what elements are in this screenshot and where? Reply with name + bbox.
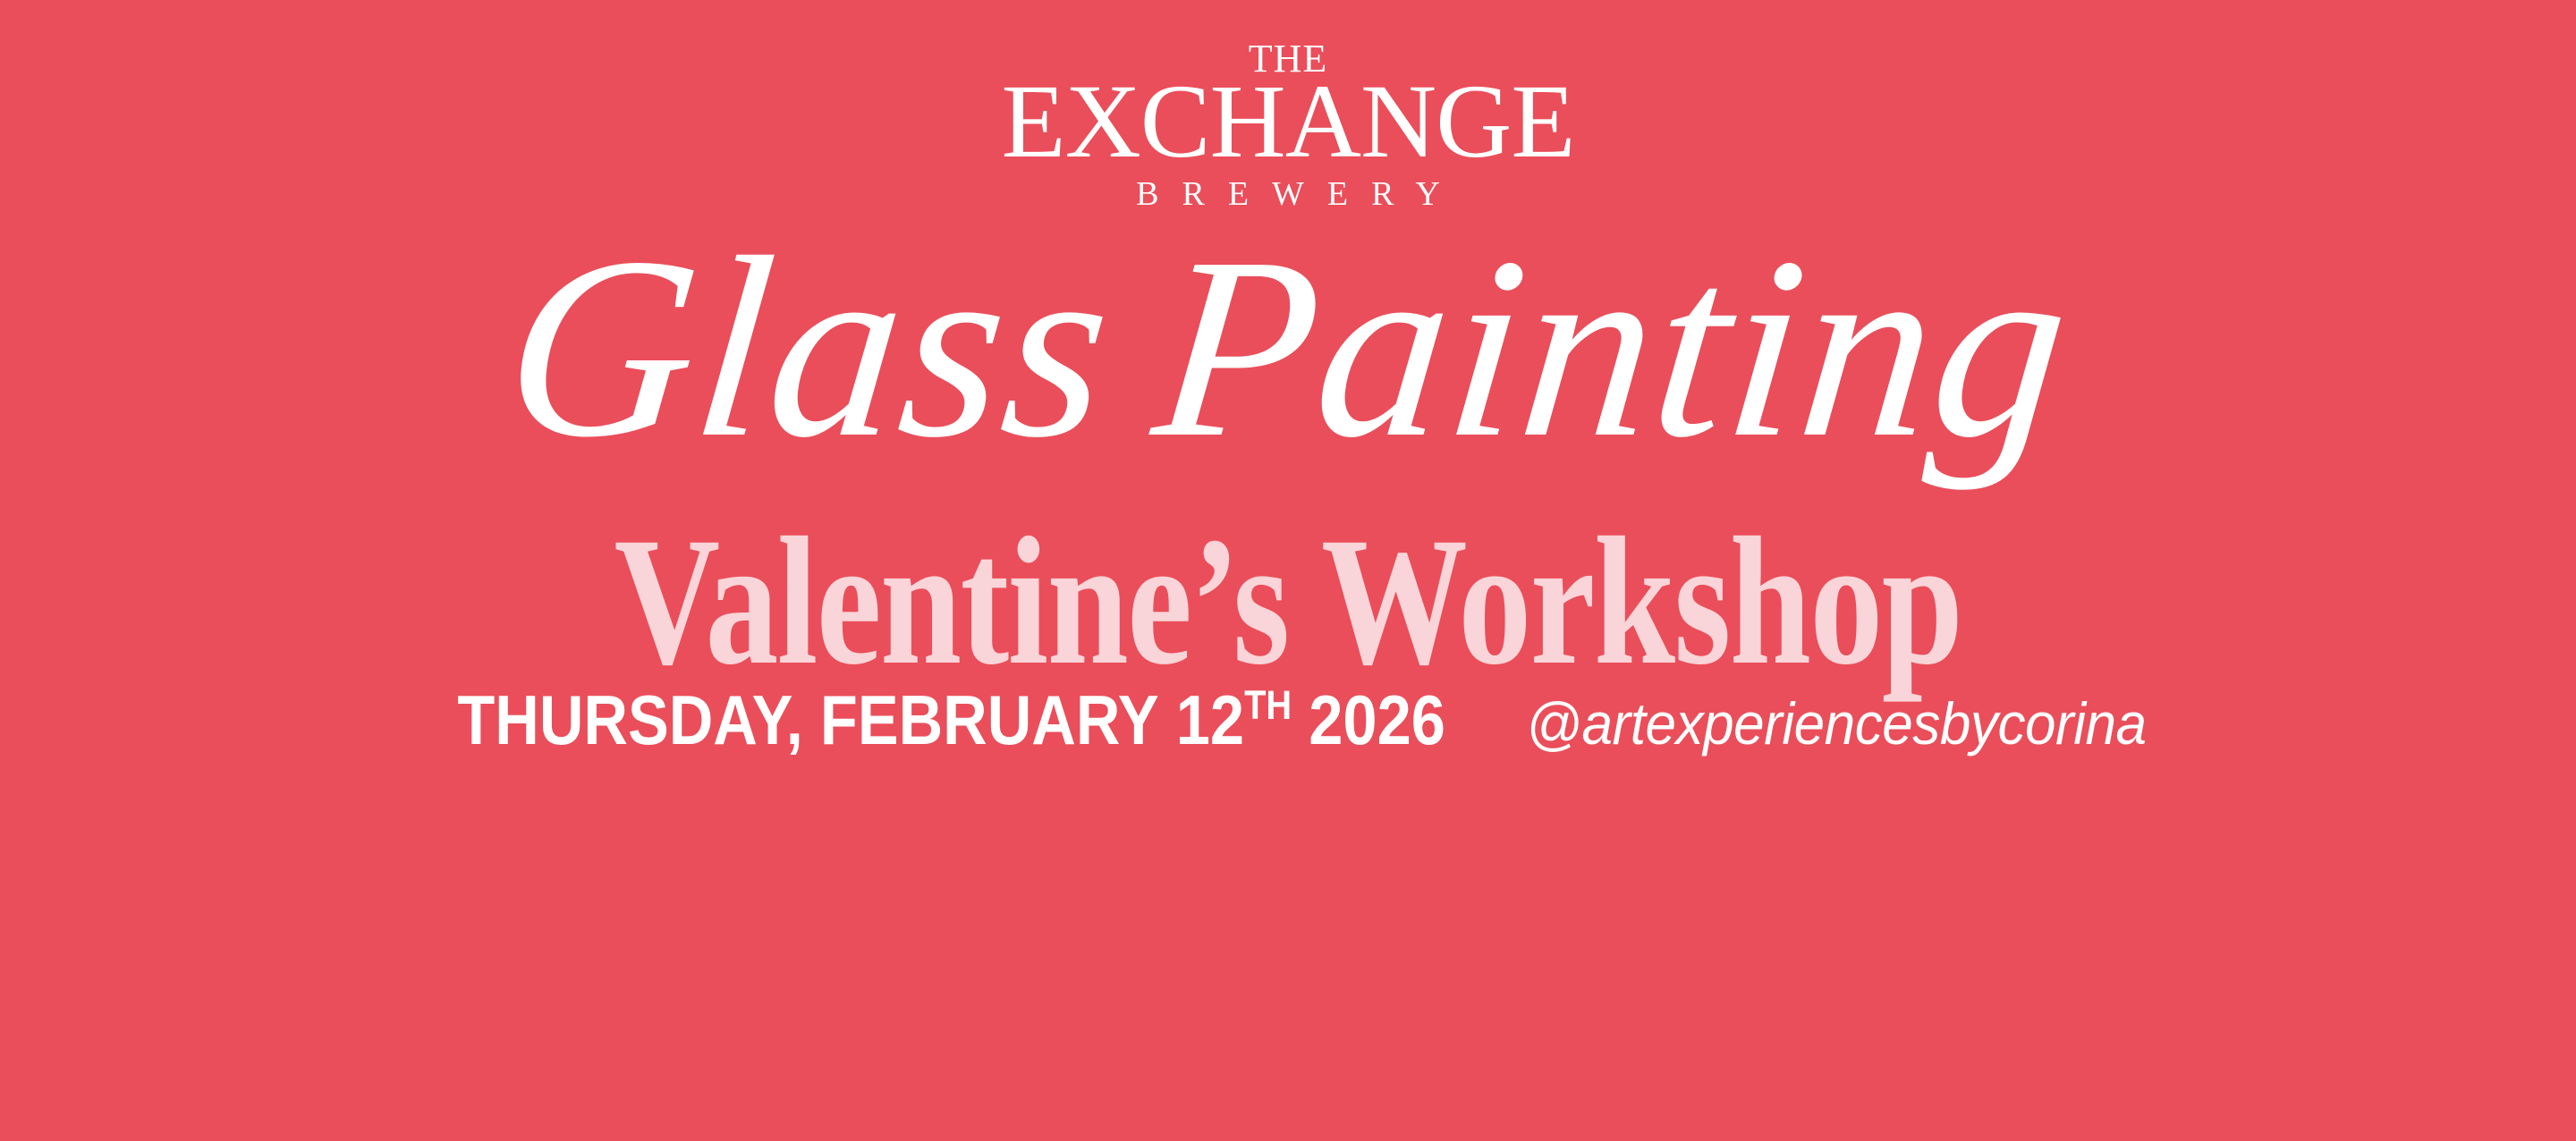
event-weekday-month: THURSDAY, FEBRUARY <box>458 680 1159 759</box>
logo-line-exchange: EXCHANGE <box>0 72 2576 172</box>
event-day-number: 12 <box>1176 680 1244 759</box>
event-promo-banner: THE EXCHANGE BREWERY GlassPainting Valen… <box>0 0 2576 1141</box>
event-day-ordinal: TH <box>1245 682 1292 728</box>
event-details-line: THURSDAY, FEBRUARY 12TH 2026@artexperien… <box>0 685 2576 755</box>
script-word-glass: Glass <box>494 204 1123 491</box>
script-word-painting: Painting <box>1144 204 2082 491</box>
subheadline: Valentine’s Workshop <box>258 510 2318 693</box>
instagram-handle: @artexperiencesbycorina <box>1526 694 2147 753</box>
script-headline: GlassPainting <box>0 186 2576 511</box>
event-date: THURSDAY, FEBRUARY 12TH 2026 <box>458 685 1446 755</box>
event-year: 2026 <box>1309 680 1446 759</box>
